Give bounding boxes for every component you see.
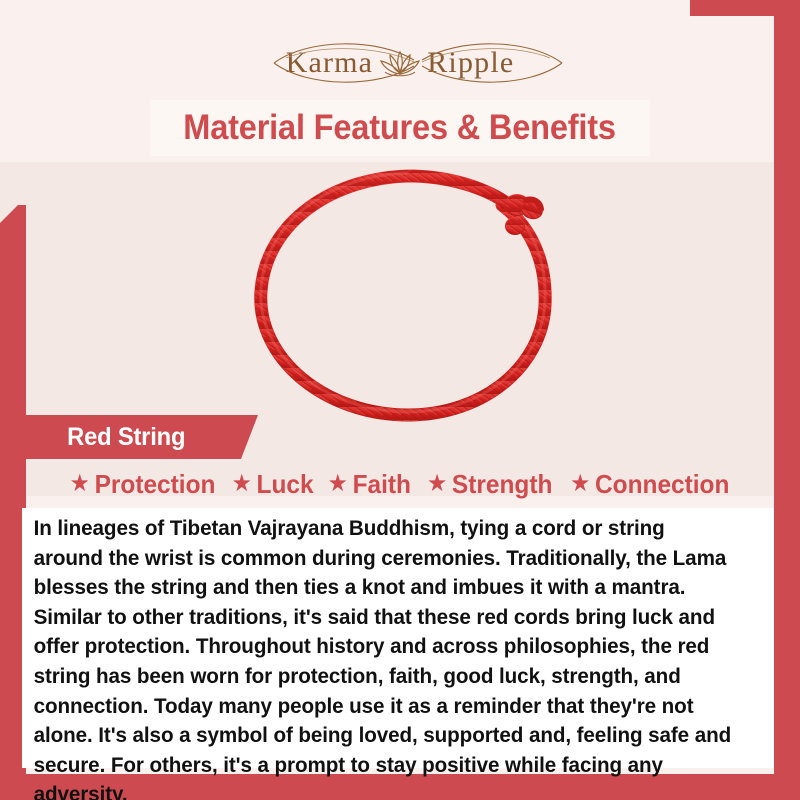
star-icon: ★ (427, 472, 447, 496)
star-icon: ★ (70, 472, 90, 496)
description-panel: In lineages of Tibetan Vajrayana Buddhis… (22, 508, 774, 768)
lotus-icon (377, 46, 423, 80)
benefit-label: Faith (353, 469, 411, 500)
red-string-bracelet-illustration (230, 160, 590, 430)
brand-logo: Karma Ripple (0, 34, 800, 92)
benefits-row: ★ Protection ★ Luck ★ Faith ★ Strength ★… (26, 466, 774, 502)
material-label: Red String (67, 423, 185, 452)
star-icon: ★ (232, 472, 252, 496)
infographic-page: Karma Ripple Material Features & Benefit… (0, 0, 800, 800)
brand-name-left: Karma (286, 48, 374, 78)
benefit-luck: ★ Luck (232, 469, 314, 500)
star-icon: ★ (570, 472, 590, 496)
page-title: Material Features & Benefits (184, 108, 617, 148)
title-banner: Material Features & Benefits (150, 100, 650, 156)
benefit-label: Protection (95, 469, 216, 500)
benefit-label: Luck (257, 469, 314, 500)
brand-name-right: Ripple (427, 48, 514, 78)
benefit-protection: ★ Protection (70, 469, 216, 500)
benefit-faith: ★ Faith (328, 469, 411, 500)
benefit-label: Connection (595, 469, 729, 500)
benefit-connection: ★ Connection (570, 469, 729, 500)
frame-accent-right (774, 0, 800, 774)
description-text: In lineages of Tibetan Vajrayana Buddhis… (22, 512, 748, 800)
product-image (230, 160, 590, 430)
benefit-strength: ★ Strength (427, 469, 552, 500)
material-label-banner: Red String (26, 415, 258, 459)
benefit-label: Strength (452, 469, 552, 500)
star-icon: ★ (328, 472, 348, 496)
